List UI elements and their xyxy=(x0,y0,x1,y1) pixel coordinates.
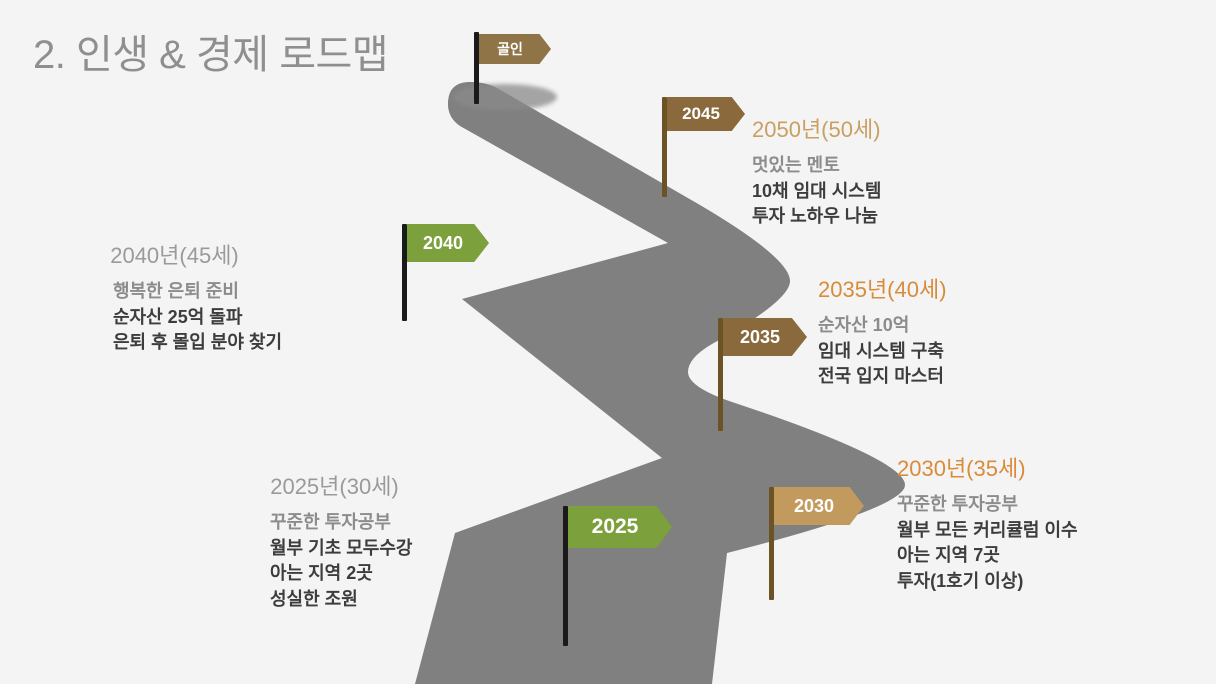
flag-pole-2035 xyxy=(718,318,723,431)
milestone-2030-line-3: 아는 지역 7곳 xyxy=(897,543,1078,569)
milestone-2025: 2025년(30세) 꾸준한 투자공부 월부 기초 모두수강 아는 지역 2곳 … xyxy=(160,469,509,612)
goal-flag-shadow xyxy=(453,84,557,110)
milestone-2030-line-2: 월부 모든 커리큘럼 이수 xyxy=(897,518,1078,544)
milestone-2025-line-1: 꾸준한 투자공부 xyxy=(160,510,509,536)
milestone-2050-line-2: 10채 임대 시스템 xyxy=(752,179,881,205)
milestone-2035-heading: 2035년(40세) xyxy=(818,272,947,304)
milestone-2050-heading: 2050년(50세) xyxy=(752,112,881,144)
milestone-2025-line-3: 아는 지역 2곳 xyxy=(160,561,509,587)
flag-banner-goal: 골인 xyxy=(479,34,551,64)
flag-banner-2025: 2025 xyxy=(568,506,672,548)
flag-pole-2025 xyxy=(563,506,568,646)
flag-label-2045: 2045 xyxy=(667,104,745,124)
milestone-2035-line-3: 전국 입지 마스터 xyxy=(818,364,947,390)
milestone-2040-line-2: 순자산 25억 돌파 xyxy=(0,305,349,331)
milestone-2025-heading: 2025년(30세) xyxy=(160,469,509,501)
milestone-2030-line-1: 꾸준한 투자공부 xyxy=(897,492,1078,518)
flag-banner-2040: 2040 xyxy=(407,224,489,262)
flag-banner-2045: 2045 xyxy=(667,97,745,131)
milestone-2050: 2050년(50세) 멋있는 멘토 10채 임대 시스템 투자 노하우 나눔 xyxy=(752,112,881,230)
milestone-2030: 2030년(35세) 꾸준한 투자공부 월부 모든 커리큘럼 이수 아는 지역 … xyxy=(897,451,1078,594)
flag-label-2030: 2030 xyxy=(774,496,864,517)
milestone-2035-line-2: 임대 시스템 구축 xyxy=(818,339,947,365)
flag-label-goal: 골인 xyxy=(479,39,551,59)
roadmap-slide: 2. 인생 & 경제 로드맵 골인 2045 2040 2035 2030 xyxy=(0,0,1216,684)
milestone-2040-line-3: 은퇴 후 몰입 분야 찾기 xyxy=(0,330,349,356)
milestone-2025-line-2: 월부 기초 모두수강 xyxy=(160,536,509,562)
milestone-2040-heading: 2040년(45세) xyxy=(0,238,349,270)
road-start-cap xyxy=(448,82,492,126)
flag-label-2035: 2035 xyxy=(723,327,807,348)
page-title: 2. 인생 & 경제 로드맵 xyxy=(33,22,388,80)
flag-banner-2030: 2030 xyxy=(774,487,864,525)
flag-banner-2035: 2035 xyxy=(723,318,807,356)
milestone-2035-line-1: 순자산 10억 xyxy=(818,313,947,339)
flag-pole-2040 xyxy=(402,224,407,321)
milestone-2030-line-4: 투자(1호기 이상) xyxy=(897,569,1078,595)
milestone-2040-line-1: 행복한 은퇴 준비 xyxy=(0,279,349,305)
flag-pole-2030 xyxy=(769,487,774,600)
milestone-2050-line-1: 멋있는 멘토 xyxy=(752,153,881,179)
flag-pole-goal xyxy=(474,32,479,104)
flag-label-2040: 2040 xyxy=(407,233,489,254)
milestone-2030-heading: 2030년(35세) xyxy=(897,451,1078,483)
milestone-2040: 2040년(45세) 행복한 은퇴 준비 순자산 25억 돌파 은퇴 후 몰입 … xyxy=(0,238,349,356)
flag-label-2025: 2025 xyxy=(568,515,672,539)
milestone-2025-line-4: 성실한 조원 xyxy=(160,587,509,613)
milestone-2050-line-3: 투자 노하우 나눔 xyxy=(752,204,881,230)
flag-pole-2045 xyxy=(662,97,667,197)
milestone-2035: 2035년(40세) 순자산 10억 임대 시스템 구축 전국 입지 마스터 xyxy=(818,272,947,390)
